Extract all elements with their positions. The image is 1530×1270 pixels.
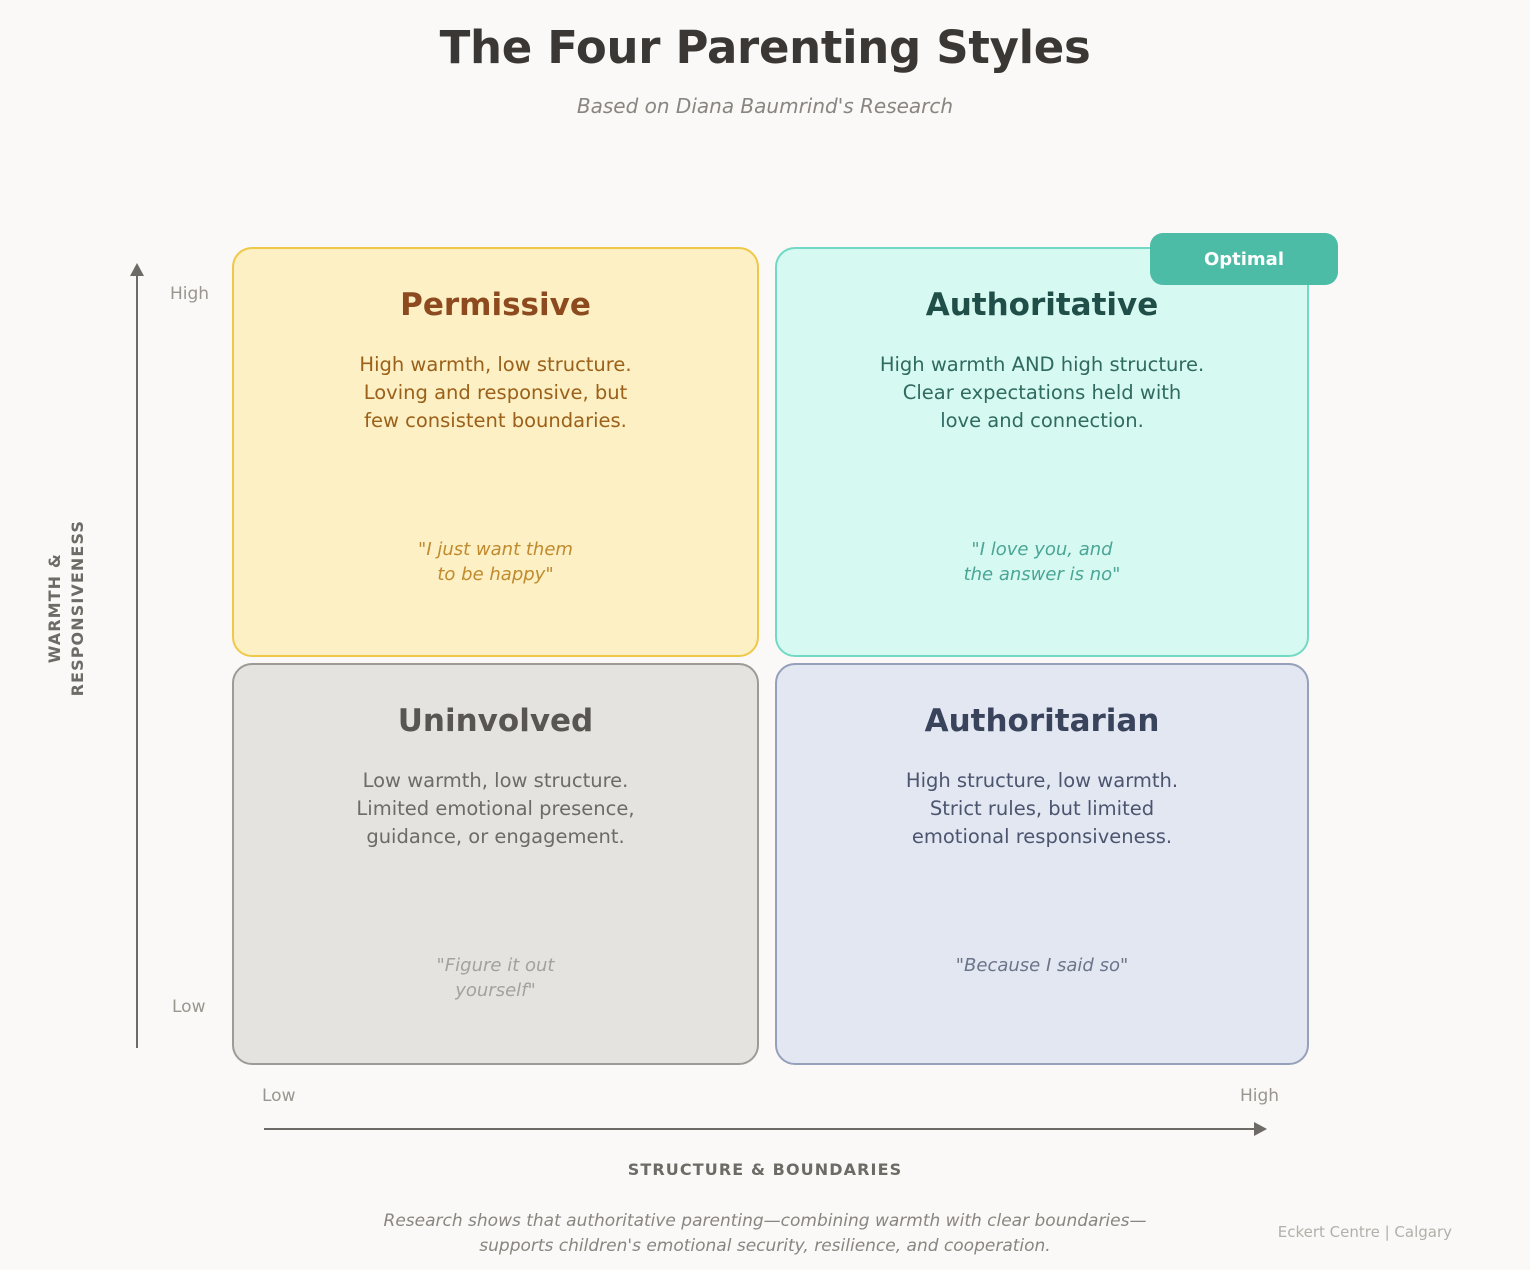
- quadrant-authoritarian-quote: "Because I said so": [777, 953, 1307, 978]
- quote-line-2: the answer is no": [777, 562, 1307, 587]
- desc-line-2: Strict rules, but limited: [777, 795, 1307, 823]
- quadrant-authoritative-quote: "I love you, and the answer is no": [777, 537, 1307, 587]
- desc-line-3: few consistent boundaries.: [234, 407, 757, 435]
- quadrant-uninvolved-description: Low warmth, low structure. Limited emoti…: [234, 767, 757, 850]
- optimal-badge: Optimal: [1150, 233, 1338, 285]
- quadrant-uninvolved-quote: "Figure it out yourself": [234, 953, 757, 1003]
- y-axis-tick-high: High: [170, 284, 209, 304]
- quadrant-permissive-quote: "I just want them to be happy": [234, 537, 757, 587]
- quote-line-1: "I just want them: [234, 537, 757, 562]
- x-axis-tick-high: High: [1240, 1086, 1279, 1106]
- desc-line-3: emotional responsiveness.: [777, 823, 1307, 851]
- quote-line-2: to be happy": [234, 562, 757, 587]
- quote-line-1: "I love you, and: [777, 537, 1307, 562]
- x-axis-label: STRUCTURE & BOUNDARIES: [0, 1160, 1530, 1179]
- desc-line-3: guidance, or engagement.: [234, 823, 757, 851]
- quadrant-authoritative[interactable]: Authoritative High warmth AND high struc…: [775, 247, 1309, 657]
- desc-line-3: love and connection.: [777, 407, 1307, 435]
- x-axis-tick-low: Low: [262, 1086, 295, 1106]
- quote-line-1: "Figure it out: [234, 953, 757, 978]
- quadrant-uninvolved[interactable]: Uninvolved Low warmth, low structure. Li…: [232, 663, 759, 1065]
- quadrant-uninvolved-title: Uninvolved: [234, 703, 757, 740]
- quadrant-authoritarian-description: High structure, low warmth. Strict rules…: [777, 767, 1307, 850]
- x-axis-arrow-icon: [1254, 1122, 1267, 1136]
- x-axis-line: [264, 1128, 1256, 1130]
- quadrant-permissive[interactable]: Permissive High warmth, low structure. L…: [232, 247, 759, 657]
- y-axis-tick-low: Low: [172, 997, 205, 1017]
- y-axis-line: [136, 272, 138, 1048]
- quadrant-authoritative-description: High warmth AND high structure. Clear ex…: [777, 351, 1307, 434]
- quadrant-permissive-title: Permissive: [234, 287, 757, 324]
- parenting-styles-matrix: High Low WARMTH & RESPONSIVENESS Low Hig…: [0, 0, 1530, 1270]
- y-axis-label: WARMTH & RESPONSIVENESS: [43, 488, 89, 728]
- quadrant-authoritarian-title: Authoritarian: [777, 703, 1307, 740]
- desc-line-1: High structure, low warmth.: [777, 767, 1307, 795]
- y-axis-label-line1: WARMTH &: [43, 488, 66, 728]
- quadrant-permissive-description: High warmth, low structure. Loving and r…: [234, 351, 757, 434]
- desc-line-2: Loving and responsive, but: [234, 379, 757, 407]
- quadrant-authoritarian[interactable]: Authoritarian High structure, low warmth…: [775, 663, 1309, 1065]
- desc-line-2: Clear expectations held with: [777, 379, 1307, 407]
- quote-line-1: "Because I said so": [777, 953, 1307, 978]
- desc-line-2: Limited emotional presence,: [234, 795, 757, 823]
- desc-line-1: High warmth, low structure.: [234, 351, 757, 379]
- quote-line-2: yourself": [234, 978, 757, 1003]
- desc-line-1: Low warmth, low structure.: [234, 767, 757, 795]
- footer-credit: Eckert Centre | Calgary: [1278, 1223, 1452, 1241]
- quadrant-authoritative-title: Authoritative: [777, 287, 1307, 324]
- y-axis-label-line2: RESPONSIVENESS: [66, 488, 89, 728]
- desc-line-1: High warmth AND high structure.: [777, 351, 1307, 379]
